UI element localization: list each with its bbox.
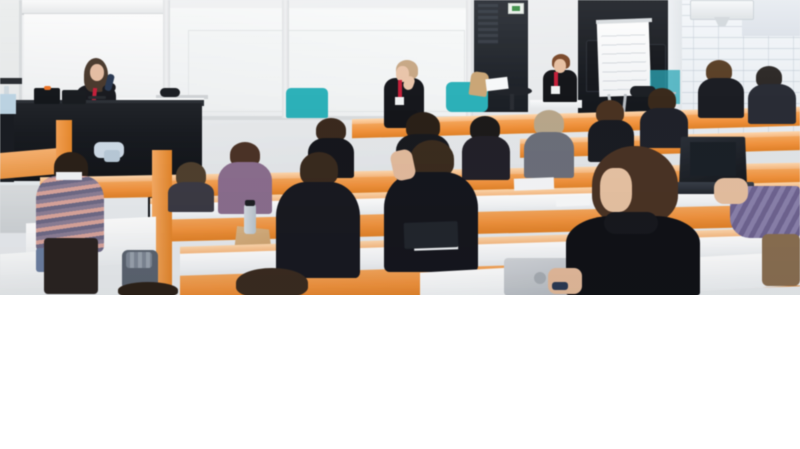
water-bottle: [244, 204, 256, 234]
tablet: [404, 221, 459, 249]
article-header-card: KOTELOV Мастер-класс «Резюме разработчик…: [0, 0, 800, 449]
marker-pen: [44, 86, 51, 90]
equipment: [160, 88, 180, 97]
attendee-body: [276, 182, 360, 278]
attendee-head: [118, 282, 178, 295]
paper-sheet: [514, 177, 554, 190]
plastic-bag: [104, 150, 120, 162]
attendee-body: [543, 70, 577, 102]
exit-sign-icon: [508, 3, 524, 14]
attendee-body: [748, 84, 796, 124]
monitor: [34, 88, 60, 104]
teal-chair: [286, 88, 328, 118]
attendee-head: [236, 268, 308, 295]
door-panel: [478, 4, 498, 44]
round-table-leg: [510, 94, 514, 110]
attendee-head: [300, 152, 338, 186]
collar: [56, 172, 82, 180]
hero-photo: [0, 0, 800, 295]
caption-block: KOTELOV Мастер-класс «Резюме разработчик…: [0, 295, 800, 449]
attendee-body: [524, 132, 574, 178]
laptop-display: [690, 142, 736, 176]
flipchart-lines: [601, 29, 647, 90]
bottle-cap: [245, 200, 255, 206]
badge: [395, 97, 404, 105]
attendee-body: [762, 234, 800, 286]
turtleneck-collar: [604, 212, 658, 234]
backpack-pattern: [126, 252, 152, 268]
blue-box: [0, 94, 16, 114]
wristwatch: [552, 282, 568, 290]
attendee-face: [554, 59, 566, 73]
attendee-hand: [548, 268, 582, 294]
chair-back: [44, 238, 98, 294]
side-table: [0, 78, 22, 84]
cable: [88, 96, 106, 99]
speaker-face: [90, 64, 104, 81]
attendee-body: [462, 136, 510, 180]
paper-sheet: [556, 195, 590, 207]
attendee-body: [698, 78, 744, 118]
monitor: [62, 90, 86, 104]
macbook-logo-icon: [534, 272, 546, 284]
attendee-hand: [714, 178, 748, 204]
attendee-face: [600, 168, 632, 212]
photo-scene: [0, 0, 800, 295]
badge: [551, 86, 560, 94]
attendee-body: [168, 182, 214, 212]
